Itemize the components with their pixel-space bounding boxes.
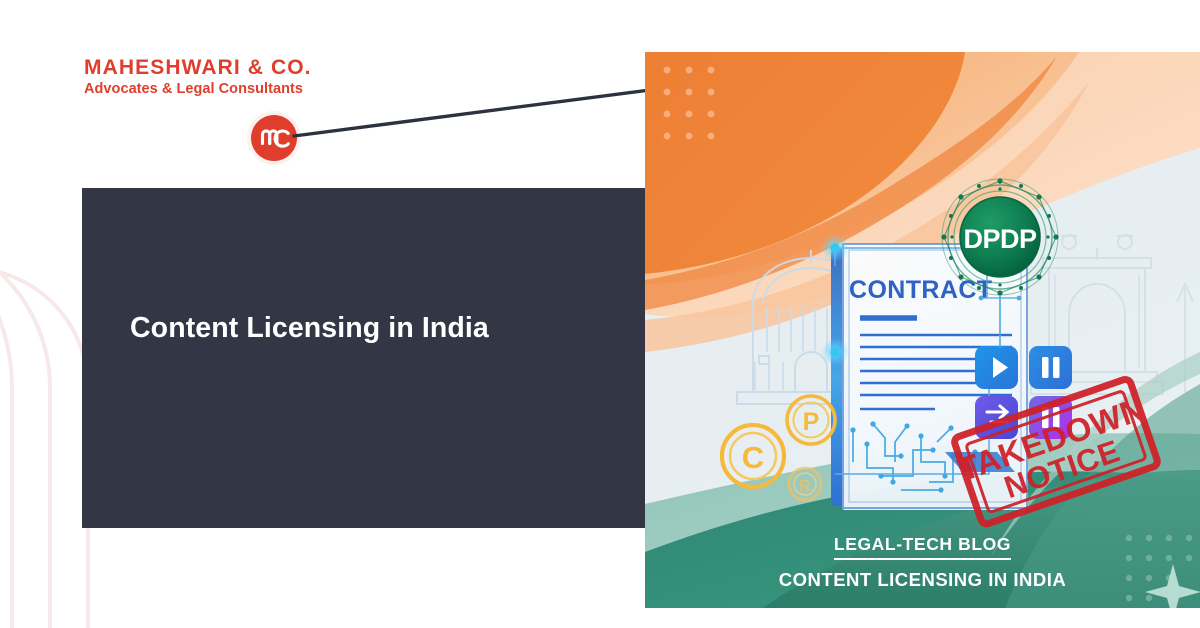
panel-caption: LEGAL-TECH BLOG CONTENT LICENSING IN IND… (645, 534, 1200, 591)
glow-node (830, 243, 839, 252)
caption-title: CONTENT LICENSING IN INDIA (645, 569, 1200, 591)
seal-label: DPDP (963, 224, 1037, 254)
page-title: Content Licensing in India (130, 312, 630, 345)
svg-text:C: C (742, 440, 764, 475)
illustration-panel: CONTRACT (645, 52, 1200, 608)
poster-canvas: MAHESHWARI & CO. Advocates & Legal Consu… (0, 0, 1200, 628)
glow-node (830, 347, 839, 356)
caption-eyebrow: LEGAL-TECH BLOG (834, 534, 1011, 560)
svg-text:R: R (799, 478, 811, 495)
media-button-play (975, 346, 1018, 389)
brand-name: MAHESHWARI & CO. (84, 56, 334, 79)
title-card: Content Licensing in India (82, 188, 668, 528)
mc-monogram-circle-icon (246, 110, 302, 166)
registered-trademark-coin-icon: R (789, 468, 821, 500)
brand-block: MAHESHWARI & CO. Advocates & Legal Consu… (84, 56, 334, 97)
diagonal-connector-line (290, 78, 670, 148)
illustration-graphic: CONTRACT (645, 52, 1200, 608)
media-button-pause-1 (1029, 346, 1072, 389)
svg-text:P: P (803, 408, 820, 436)
brand-tagline: Advocates & Legal Consultants (84, 81, 334, 97)
phonogram-coin-icon: P (787, 396, 835, 444)
